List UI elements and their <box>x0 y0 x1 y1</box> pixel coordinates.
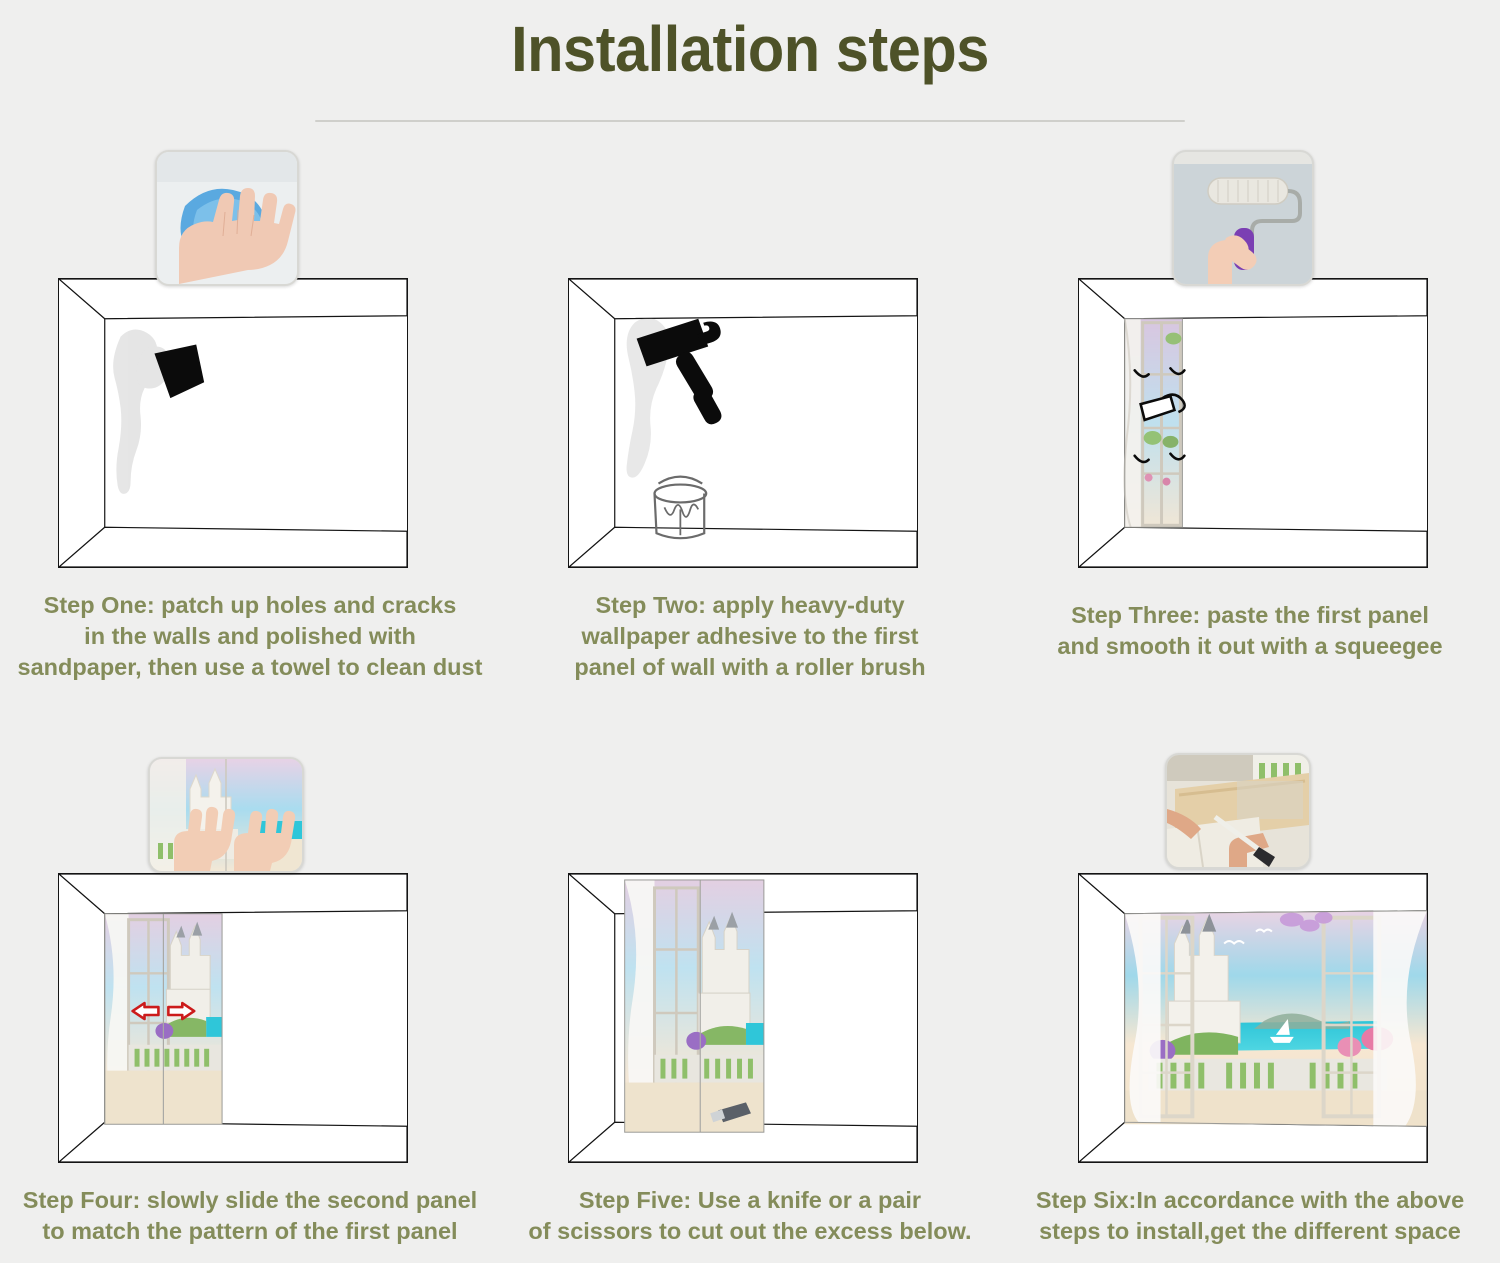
step-four-caption: Step Four: slowly slide the second panel… <box>0 1185 500 1247</box>
step-five-illustration <box>500 745 1000 1185</box>
mural-panels-two <box>105 914 222 1125</box>
title-divider <box>315 120 1185 122</box>
photo-thumbnail-step-one <box>155 150 299 286</box>
steps-row-top: Step One: patch up holes and cracks in t… <box>0 150 1500 683</box>
finished-mural <box>1125 911 1427 1127</box>
room-diagram-one <box>58 278 408 568</box>
step-two-caption: Step Two: apply heavy-duty wallpaper adh… <box>500 590 1000 683</box>
room-diagram-five <box>568 873 918 1163</box>
photo-thumbnail-step-four <box>148 757 304 873</box>
room-diagram-four <box>58 873 408 1163</box>
step-five-caption: Step Five: Use a knife or a pair of scis… <box>500 1185 1000 1247</box>
steps-grid: Step One: patch up holes and cracks in t… <box>0 150 1500 1247</box>
step-one-caption: Step One: patch up holes and cracks in t… <box>0 590 500 683</box>
mural-panels-trim <box>625 880 764 1132</box>
step-one-illustration <box>0 150 500 590</box>
installation-steps-infographic: Installation steps <box>0 0 1500 1263</box>
step-three-caption: Step Three: paste the first panel and sm… <box>1000 590 1500 662</box>
steps-row-bottom: Step Four: slowly slide the second panel… <box>0 745 1500 1247</box>
room-diagram-six <box>1078 873 1428 1163</box>
photo-thumbnail-step-five <box>1165 753 1311 869</box>
step-card-one: Step One: patch up holes and cracks in t… <box>0 150 500 683</box>
page-header: Installation steps <box>0 0 1500 122</box>
photo-thumbnail-step-two <box>1172 150 1314 286</box>
step-six-caption: Step Six:In accordance with the above st… <box>1000 1185 1500 1247</box>
cleaning-sponge-icon <box>154 345 204 399</box>
step-two-illustration <box>500 150 1000 590</box>
room-diagram-two <box>568 278 918 568</box>
step-card-two: Step Two: apply heavy-duty wallpaper adh… <box>500 150 1000 683</box>
step-card-five: Step Five: Use a knife or a pair of scis… <box>500 745 1000 1247</box>
step-card-four: Step Four: slowly slide the second panel… <box>0 745 500 1247</box>
room-diagram-three <box>1078 278 1428 568</box>
step-four-illustration <box>0 745 500 1185</box>
mural-panel-one <box>1124 319 1182 528</box>
page-title: Installation steps <box>53 0 1448 84</box>
